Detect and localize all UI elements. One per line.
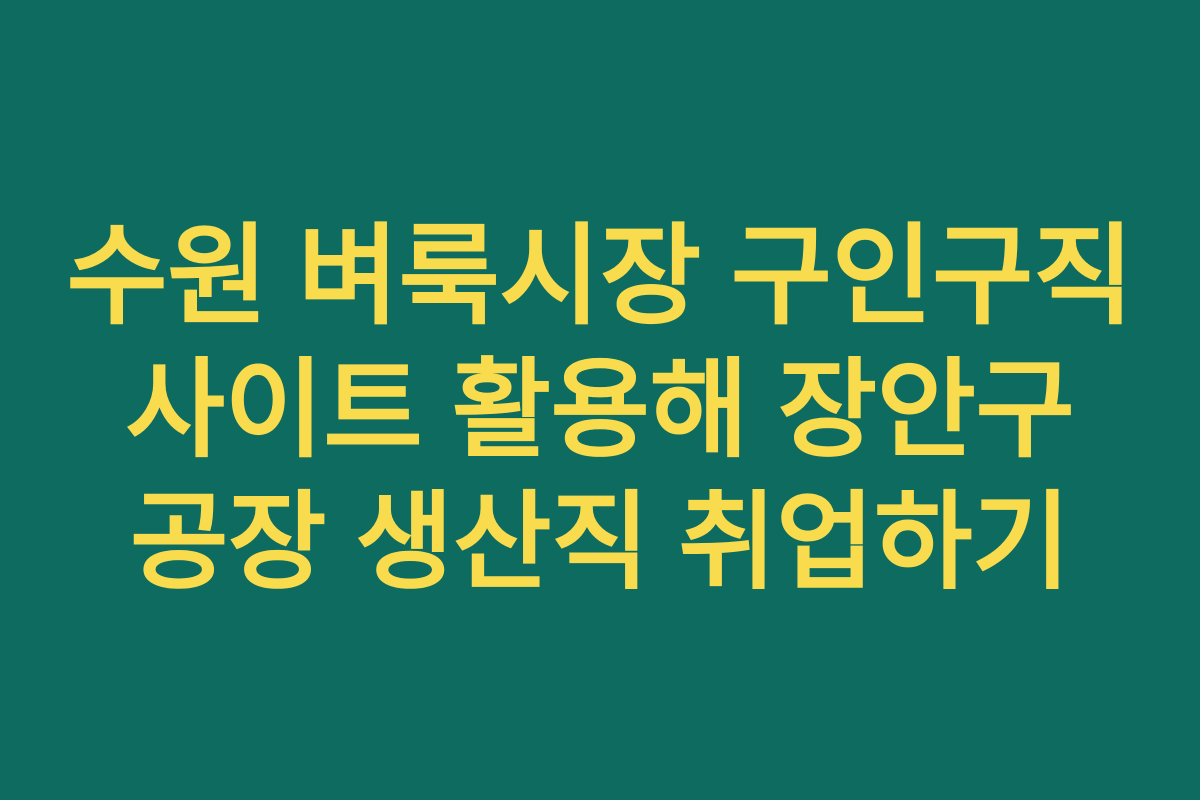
thumbnail-card: 수원 벼룩시장 구인구직 사이트 활용해 장안구 공장 생산직 취업하기	[0, 0, 1200, 800]
headline-line-2: 사이트 활용해 장안구	[40, 343, 1160, 476]
headline-line-1: 수원 벼룩시장 구인구직	[40, 210, 1160, 343]
headline-block: 수원 벼룩시장 구인구직 사이트 활용해 장안구 공장 생산직 취업하기	[0, 210, 1200, 609]
headline-line-3: 공장 생산직 취업하기	[40, 476, 1160, 609]
